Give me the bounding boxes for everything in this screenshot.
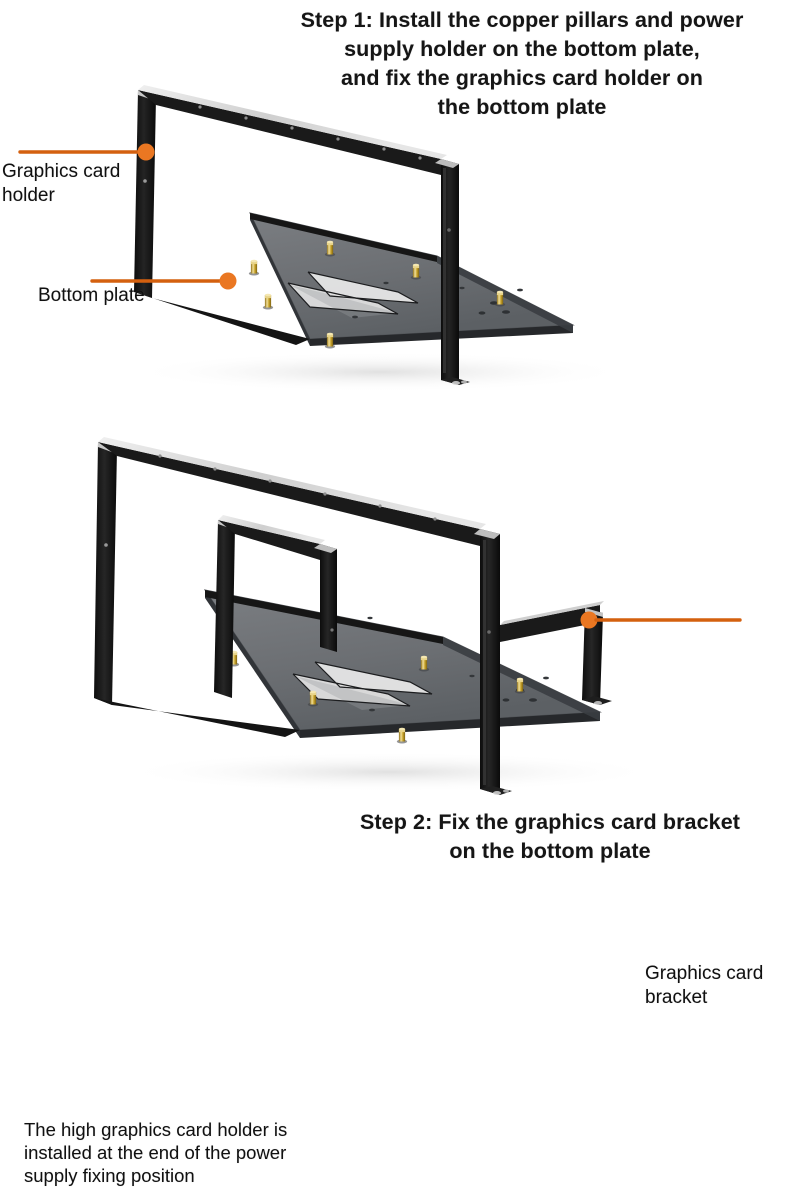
- callout-label-graphics-card-bracket: Graphics card bracket: [645, 962, 800, 1010]
- step-2-title: Step 2: Fix the graphics card bracket on…: [300, 808, 800, 866]
- callout-graphics-card-holder: [20, 144, 155, 161]
- step-1-panel: Step 1: Install the copper pillars and p…: [0, 0, 800, 400]
- callout-label-bottom-plate: Bottom plate: [38, 284, 228, 308]
- callout-label-graphics-card-holder: Graphics card holder: [2, 160, 172, 208]
- step-2-panel: Step 2: Fix the graphics card bracket on…: [0, 400, 800, 800]
- copper-pillar: [263, 294, 273, 310]
- step-1-title: Step 1: Install the copper pillars and p…: [244, 6, 800, 122]
- note-high-graphics-card-holder: The high graphics card holder is install…: [24, 1118, 364, 1187]
- step-2-illustration: [0, 400, 800, 800]
- callout-graphics-card-bracket: [581, 612, 741, 629]
- instruction-sheet: Step 1: Install the copper pillars and p…: [0, 0, 800, 800]
- copper-pillar: [249, 260, 259, 276]
